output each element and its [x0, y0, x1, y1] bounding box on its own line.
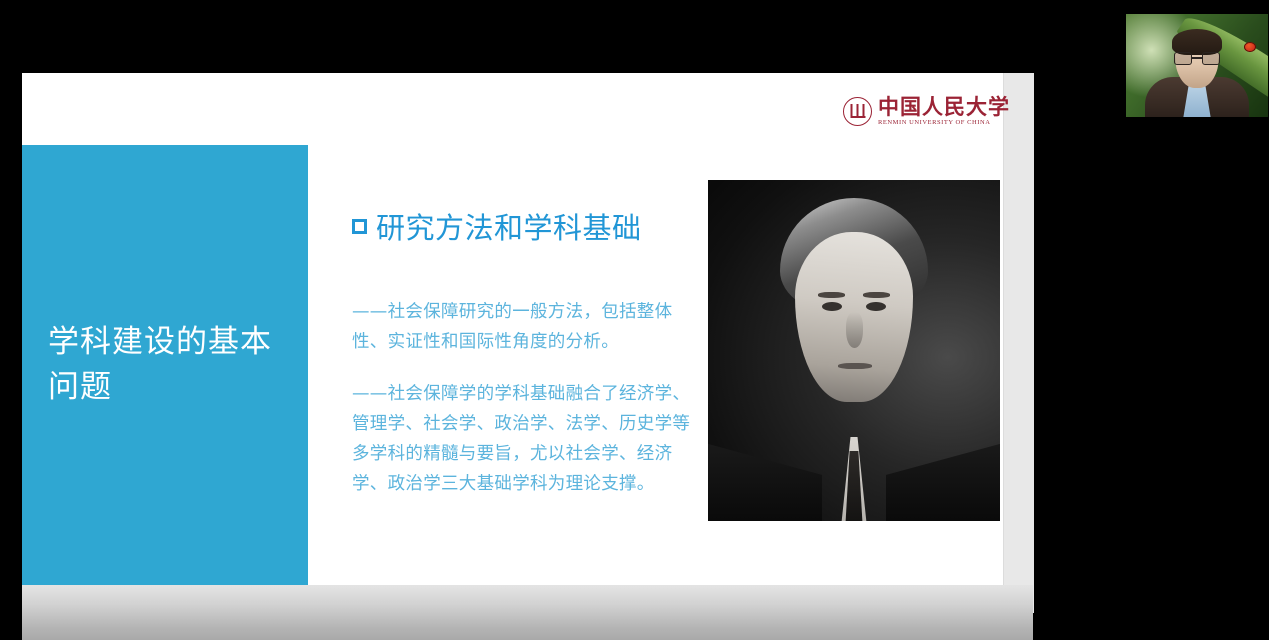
university-name-en: RENMIN UNIVERSITY OF CHINA — [878, 120, 1010, 127]
glasses-icon — [1174, 52, 1220, 65]
portrait-mouth — [838, 363, 872, 369]
slide-heading: 研究方法和学科基础 — [352, 205, 700, 247]
portrait-photo — [708, 180, 1000, 521]
square-bullet-icon — [352, 219, 367, 234]
webcam-video-feed[interactable] — [1126, 14, 1268, 117]
slide-title: 学科建设的基本问题 — [22, 320, 308, 410]
glasses-lens-right — [1202, 52, 1220, 65]
portrait-nose — [846, 312, 863, 348]
slide-paragraph-1: ——社会保障研究的一般方法，包括整体性、实证性和国际性角度的分析。 — [352, 297, 700, 357]
slide-paragraph-2: ——社会保障学的学科基础融合了经济学、管理学、社会学、政治学、法学、历史学等多学… — [352, 379, 700, 499]
university-name-cn: 中国人民大学 — [878, 96, 1010, 117]
powerpoint-workspace-bottom — [22, 585, 1033, 640]
screen-share-stage: 中国人民大学 RENMIN UNIVERSITY OF CHINA 学科建设的基… — [0, 0, 1269, 640]
portrait-eye-right — [866, 302, 886, 311]
portrait-eye-left — [822, 302, 842, 311]
webcam-tile[interactable] — [1122, 8, 1269, 123]
portrait-brow-left — [818, 292, 845, 298]
powerpoint-side-panel-strip[interactable] — [1003, 73, 1034, 613]
presentation-slide[interactable]: 中国人民大学 RENMIN UNIVERSITY OF CHINA 学科建设的基… — [22, 73, 1003, 585]
portrait-brow-right — [863, 292, 890, 298]
renmin-university-logo: 中国人民大学 RENMIN UNIVERSITY OF CHINA — [843, 87, 1003, 135]
glasses-bridge — [1192, 57, 1202, 59]
slide-title-panel: 学科建设的基本问题 — [22, 145, 308, 585]
university-seal-icon — [843, 97, 872, 126]
university-name-block: 中国人民大学 RENMIN UNIVERSITY OF CHINA — [878, 96, 1010, 127]
slide-body-column: 研究方法和学科基础 ——社会保障研究的一般方法，包括整体性、实证性和国际性角度的… — [352, 205, 700, 500]
slide-heading-text: 研究方法和学科基础 — [376, 205, 642, 247]
glasses-lens-left — [1174, 52, 1192, 65]
ladybug-icon — [1244, 42, 1256, 52]
